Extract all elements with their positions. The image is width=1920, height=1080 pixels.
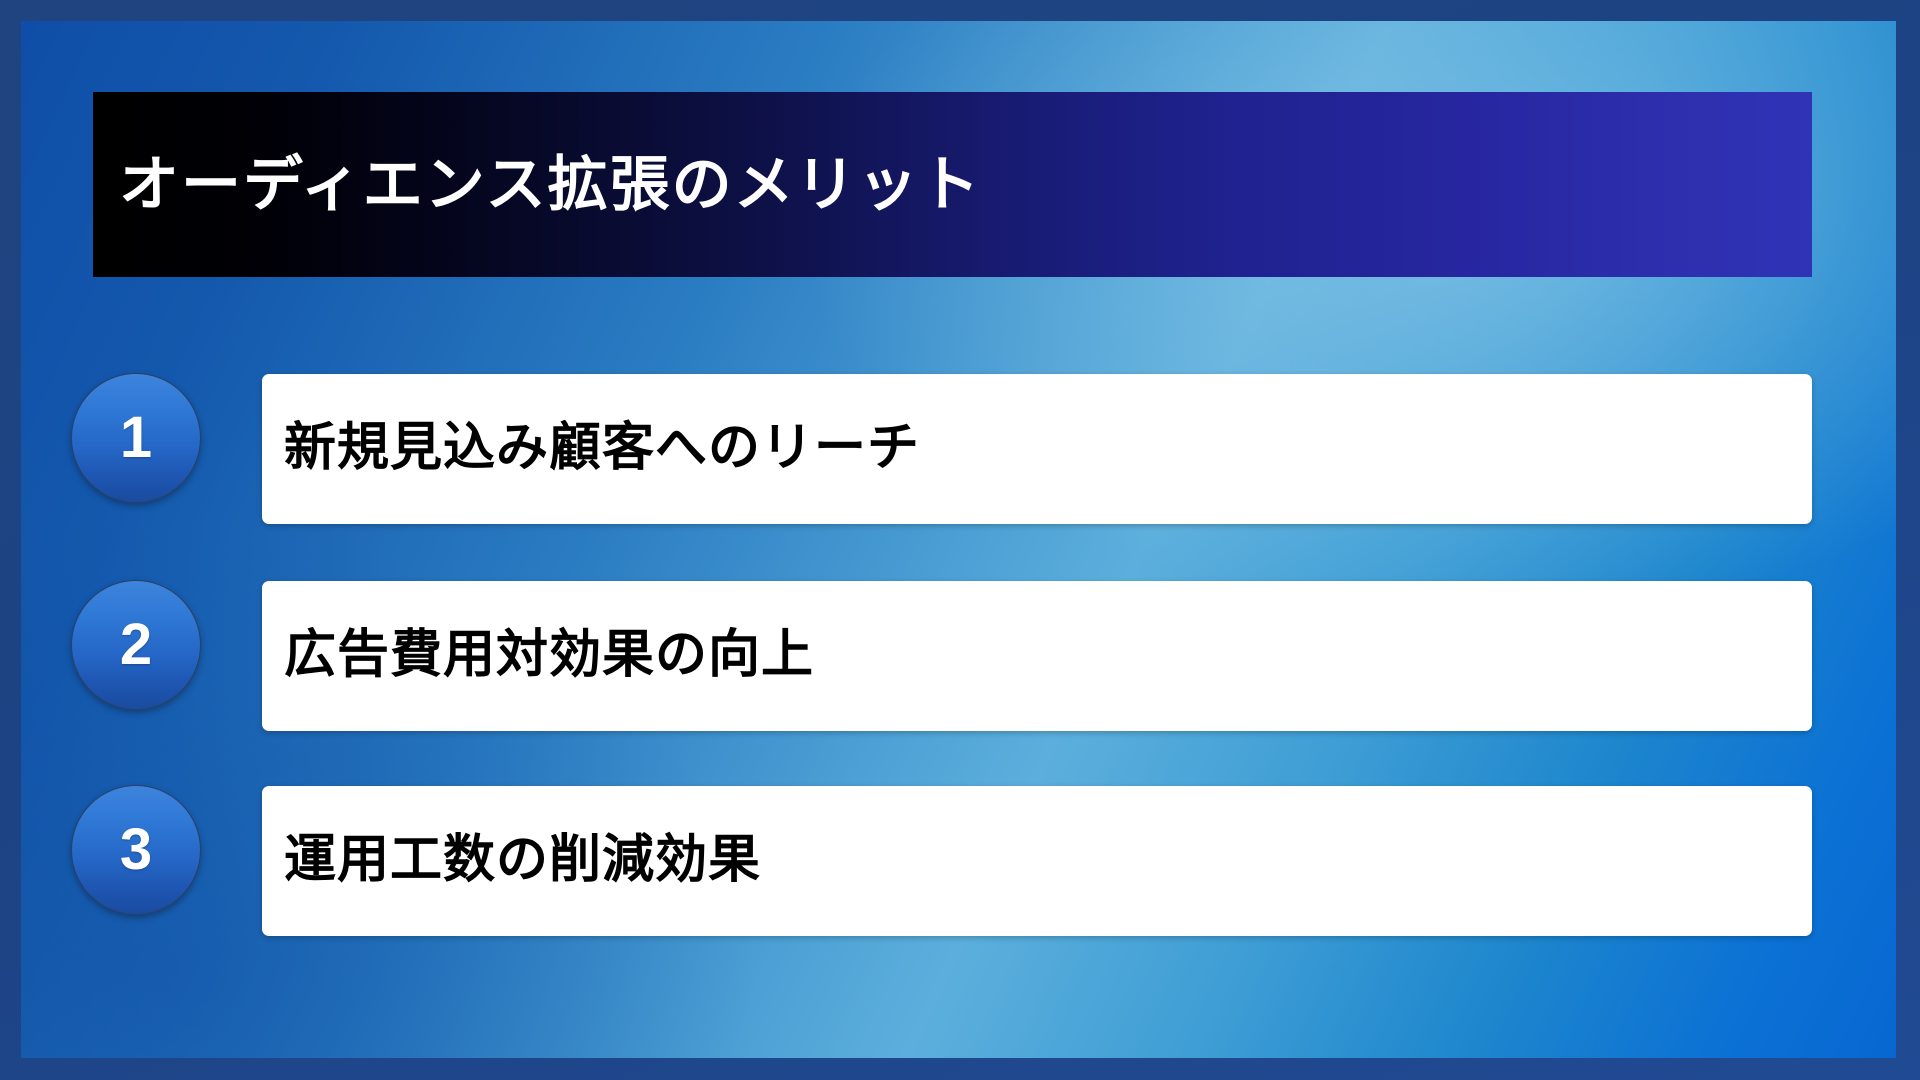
list-item: 3 運用工数の削減効果 bbox=[21, 785, 1896, 937]
item-number-label: 1 bbox=[120, 409, 152, 467]
slide-root: オーディエンス拡張のメリット 1 新規見込み顧客へのリーチ 2 広告費用対効果の… bbox=[0, 0, 1920, 1080]
item-card-3[interactable]: 運用工数の削減効果 bbox=[262, 786, 1812, 936]
item-number-label: 3 bbox=[120, 821, 152, 879]
item-card-2[interactable]: 広告費用対効果の向上 bbox=[262, 581, 1812, 731]
item-number-badge-1: 1 bbox=[71, 373, 201, 503]
item-number-label: 2 bbox=[120, 616, 152, 674]
list-item: 2 広告費用対効果の向上 bbox=[21, 580, 1896, 732]
item-card-label: 運用工数の削減効果 bbox=[262, 831, 761, 891]
item-card-label: 広告費用対効果の向上 bbox=[262, 626, 814, 686]
slide-title-bar: オーディエンス拡張のメリット bbox=[93, 92, 1812, 277]
item-number-badge-3: 3 bbox=[71, 785, 201, 915]
item-number-badge-2: 2 bbox=[71, 580, 201, 710]
item-card-1[interactable]: 新規見込み顧客へのリーチ bbox=[262, 374, 1812, 524]
page-title: オーディエンス拡張のメリット bbox=[93, 152, 982, 218]
list-item: 1 新規見込み顧客へのリーチ bbox=[21, 373, 1896, 525]
item-card-label: 新規見込み顧客へのリーチ bbox=[262, 419, 920, 479]
slide-canvas: オーディエンス拡張のメリット 1 新規見込み顧客へのリーチ 2 広告費用対効果の… bbox=[21, 21, 1896, 1058]
